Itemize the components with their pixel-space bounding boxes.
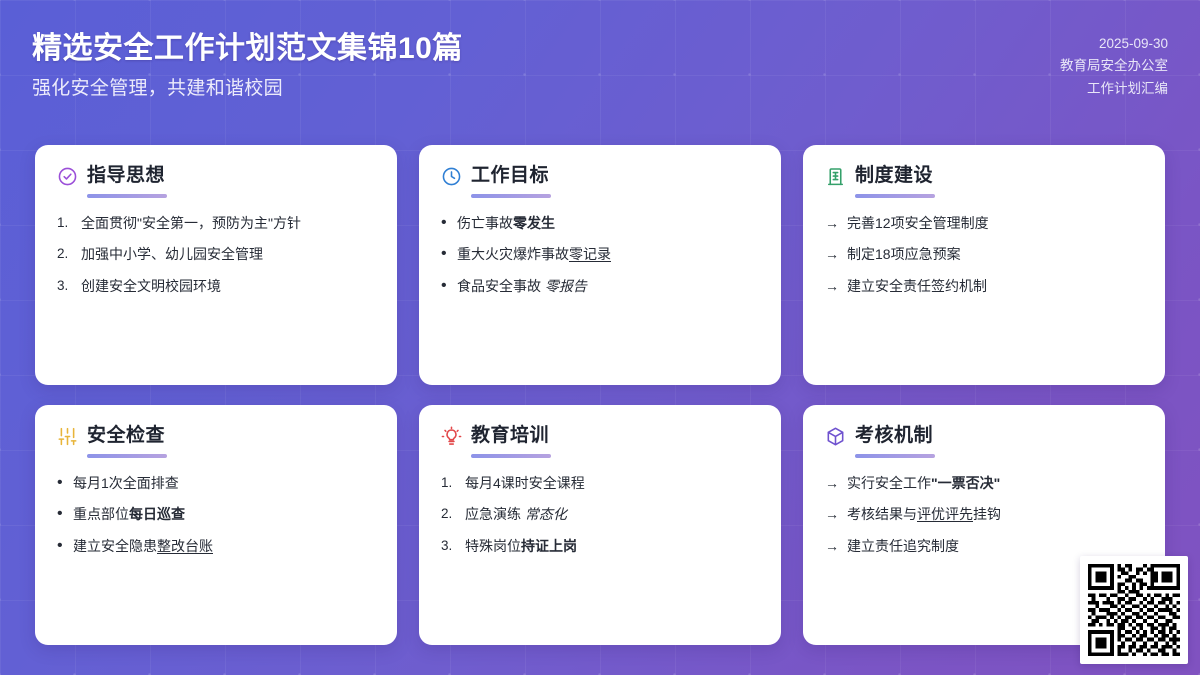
- card-header: 工作目标: [441, 166, 759, 187]
- list-marker: 2.: [57, 244, 74, 264]
- card-list: →完善12项安全管理制度→制定18项应急预案→建立安全责任签约机制: [825, 213, 1143, 296]
- page-header: 精选安全工作计划范文集锦10篇 强化安全管理，共建和谐校园 2025-09-30…: [0, 0, 1200, 130]
- list-marker: →: [825, 244, 840, 264]
- title-block: 精选安全工作计划范文集锦10篇 强化安全管理，共建和谐校园: [32, 28, 463, 101]
- list-marker: →: [825, 536, 840, 556]
- list-marker: •: [57, 473, 66, 493]
- title-underline-accent: [855, 194, 935, 198]
- list-item-text: 每月4课时安全课程: [465, 473, 759, 493]
- card-title: 安全检查: [87, 426, 165, 447]
- list-item-text: 伤亡事故零发生: [457, 213, 759, 233]
- list-item: •食品安全事故 零报告: [441, 276, 759, 296]
- list-item: →建立责任追究制度: [825, 536, 1143, 556]
- list-item: →完善12项安全管理制度: [825, 213, 1143, 233]
- card-header: 制度建设: [825, 166, 1143, 187]
- list-item-text: 全面贯彻"安全第一，预防为主"方针: [81, 213, 375, 233]
- list-item: •建立安全隐患整改台账: [57, 536, 375, 556]
- card-header: 考核机制: [825, 426, 1143, 447]
- list-item: 3.创建安全文明校园环境: [57, 276, 375, 296]
- list-item: 3.特殊岗位持证上岗: [441, 536, 759, 556]
- list-item-text: 完善12项安全管理制度: [847, 213, 1143, 233]
- title-underline-accent: [87, 194, 167, 198]
- list-item: 2.加强中小学、幼儿园安全管理: [57, 244, 375, 264]
- list-marker: •: [441, 276, 450, 296]
- page-subtitle: 强化安全管理，共建和谐校园: [32, 77, 463, 102]
- card-system-construction: 制度建设→完善12项安全管理制度→制定18项应急预案→建立安全责任签约机制: [803, 145, 1165, 385]
- list-item: →考核结果与评优评先挂钩: [825, 504, 1143, 524]
- list-marker: 3.: [441, 536, 458, 556]
- list-marker: →: [825, 504, 840, 524]
- sliders-icon: [57, 426, 78, 447]
- list-item-text: 特殊岗位持证上岗: [465, 536, 759, 556]
- card-safety-inspection: 安全检查•每月1次全面排查•重点部位每日巡查•建立安全隐患整改台账: [35, 405, 397, 645]
- list-item-text: 应急演练 常态化: [465, 504, 759, 524]
- list-marker: →: [825, 473, 840, 493]
- list-marker: •: [441, 244, 450, 264]
- list-marker: •: [441, 213, 450, 233]
- meta-department: 教育局安全办公室: [1060, 55, 1168, 77]
- card-list: •伤亡事故零发生•重大火灾爆炸事故零记录•食品安全事故 零报告: [441, 213, 759, 296]
- meta-category: 工作计划汇编: [1060, 78, 1168, 100]
- card-title: 教育培训: [471, 426, 549, 447]
- list-item: →建立安全责任签约机制: [825, 276, 1143, 296]
- card-list: →实行安全工作"一票否决"→考核结果与评优评先挂钩→建立责任追究制度: [825, 473, 1143, 556]
- list-item-text: 制定18项应急预案: [847, 244, 1143, 264]
- list-item: 1.全面贯彻"安全第一，预防为主"方针: [57, 213, 375, 233]
- list-marker: 1.: [57, 213, 74, 233]
- card-work-goals: 工作目标•伤亡事故零发生•重大火灾爆炸事故零记录•食品安全事故 零报告: [419, 145, 781, 385]
- list-item-text: 建立责任追究制度: [847, 536, 1143, 556]
- list-item-text: 建立安全隐患整改台账: [73, 536, 375, 556]
- list-item-text: 重大火灾爆炸事故零记录: [457, 244, 759, 264]
- list-item-text: 重点部位每日巡查: [73, 504, 375, 524]
- list-marker: →: [825, 276, 840, 296]
- qr-code[interactable]: [1080, 556, 1188, 664]
- list-marker: 2.: [441, 504, 458, 524]
- card-education-training: 教育培训1.每月4课时安全课程2.应急演练 常态化3.特殊岗位持证上岗: [419, 405, 781, 645]
- card-header: 安全检查: [57, 426, 375, 447]
- cube-icon: [825, 426, 846, 447]
- clock-icon: [441, 166, 462, 187]
- list-item-text: 加强中小学、幼儿园安全管理: [81, 244, 375, 264]
- list-item-text: 每月1次全面排查: [73, 473, 375, 493]
- card-header: 教育培训: [441, 426, 759, 447]
- slide-canvas: 精选安全工作计划范文集锦10篇 强化安全管理，共建和谐校园 2025-09-30…: [0, 0, 1200, 675]
- list-item: •伤亡事故零发生: [441, 213, 759, 233]
- list-marker: •: [57, 536, 66, 556]
- building-icon: [825, 166, 846, 187]
- title-underline-accent: [471, 194, 551, 198]
- card-guiding-ideology: 指导思想1.全面贯彻"安全第一，预防为主"方针2.加强中小学、幼儿园安全管理3.…: [35, 145, 397, 385]
- card-title: 工作目标: [471, 166, 549, 187]
- list-marker: →: [825, 213, 840, 233]
- list-item: →制定18项应急预案: [825, 244, 1143, 264]
- title-underline-accent: [855, 454, 935, 458]
- list-item: 1.每月4课时安全课程: [441, 473, 759, 493]
- list-item-text: 创建安全文明校园环境: [81, 276, 375, 296]
- list-marker: •: [57, 504, 66, 524]
- card-list: •每月1次全面排查•重点部位每日巡查•建立安全隐患整改台账: [57, 473, 375, 556]
- list-item: •重大火灾爆炸事故零记录: [441, 244, 759, 264]
- card-title: 制度建设: [855, 166, 933, 187]
- list-item-text: 考核结果与评优评先挂钩: [847, 504, 1143, 524]
- lightbulb-icon: [441, 426, 462, 447]
- list-item-text: 食品安全事故 零报告: [457, 276, 759, 296]
- list-item: →实行安全工作"一票否决": [825, 473, 1143, 493]
- card-title: 指导思想: [87, 166, 165, 187]
- list-marker: 1.: [441, 473, 458, 493]
- check-circle-icon: [57, 166, 78, 187]
- title-underline-accent: [471, 454, 551, 458]
- list-item-text: 实行安全工作"一票否决": [847, 473, 1143, 493]
- meta-date: 2025-09-30: [1060, 33, 1168, 55]
- card-list: 1.每月4课时安全课程2.应急演练 常态化3.特殊岗位持证上岗: [441, 473, 759, 556]
- card-title: 考核机制: [855, 426, 933, 447]
- header-meta: 2025-09-30 教育局安全办公室 工作计划汇编: [1060, 28, 1168, 100]
- page-title: 精选安全工作计划范文集锦10篇: [32, 30, 463, 68]
- list-item-text: 建立安全责任签约机制: [847, 276, 1143, 296]
- title-underline-accent: [87, 454, 167, 458]
- card-header: 指导思想: [57, 166, 375, 187]
- card-grid: 指导思想1.全面贯彻"安全第一，预防为主"方针2.加强中小学、幼儿园安全管理3.…: [35, 145, 1165, 645]
- list-item: •重点部位每日巡查: [57, 504, 375, 524]
- list-item: •每月1次全面排查: [57, 473, 375, 493]
- list-item: 2.应急演练 常态化: [441, 504, 759, 524]
- list-marker: 3.: [57, 276, 74, 296]
- card-list: 1.全面贯彻"安全第一，预防为主"方针2.加强中小学、幼儿园安全管理3.创建安全…: [57, 213, 375, 296]
